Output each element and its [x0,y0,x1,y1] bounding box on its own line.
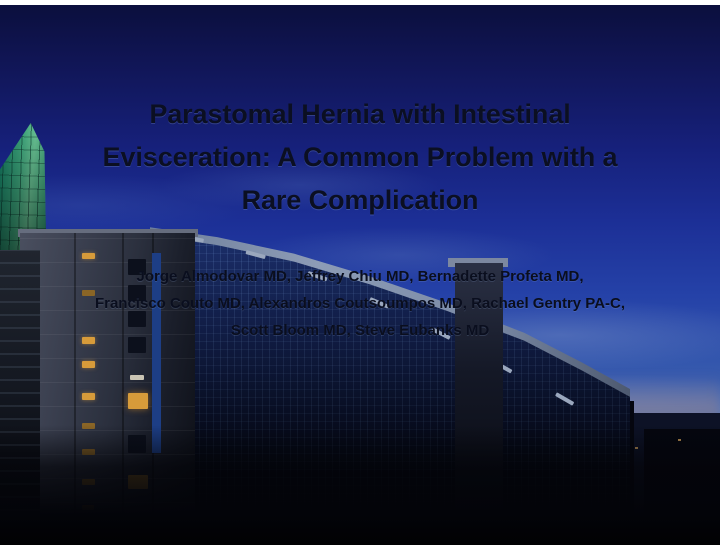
author-line-2: Francisco Couto MD, Alexandros Coutsoump… [30,290,690,317]
title-slide: Parastomal Hernia with Intestinal Evisce… [0,0,720,556]
title-line-2: Evisceration: A Common Problem with a [36,136,684,179]
author-line-1: Jorge Almodovar MD, Jeffrey Chiu MD, Ber… [30,263,690,290]
slide-title: Parastomal Hernia with Intestinal Evisce… [36,93,684,222]
author-list: Jorge Almodovar MD, Jeffrey Chiu MD, Ber… [30,263,690,344]
title-line-1: Parastomal Hernia with Intestinal [36,93,684,136]
text-layer: Parastomal Hernia with Intestinal Evisce… [0,5,720,545]
background-photograph: Parastomal Hernia with Intestinal Evisce… [0,5,720,545]
title-line-3: Rare Complication [36,179,684,222]
author-line-3: Scott Bloom MD, Steve Eubanks MD [30,317,690,344]
